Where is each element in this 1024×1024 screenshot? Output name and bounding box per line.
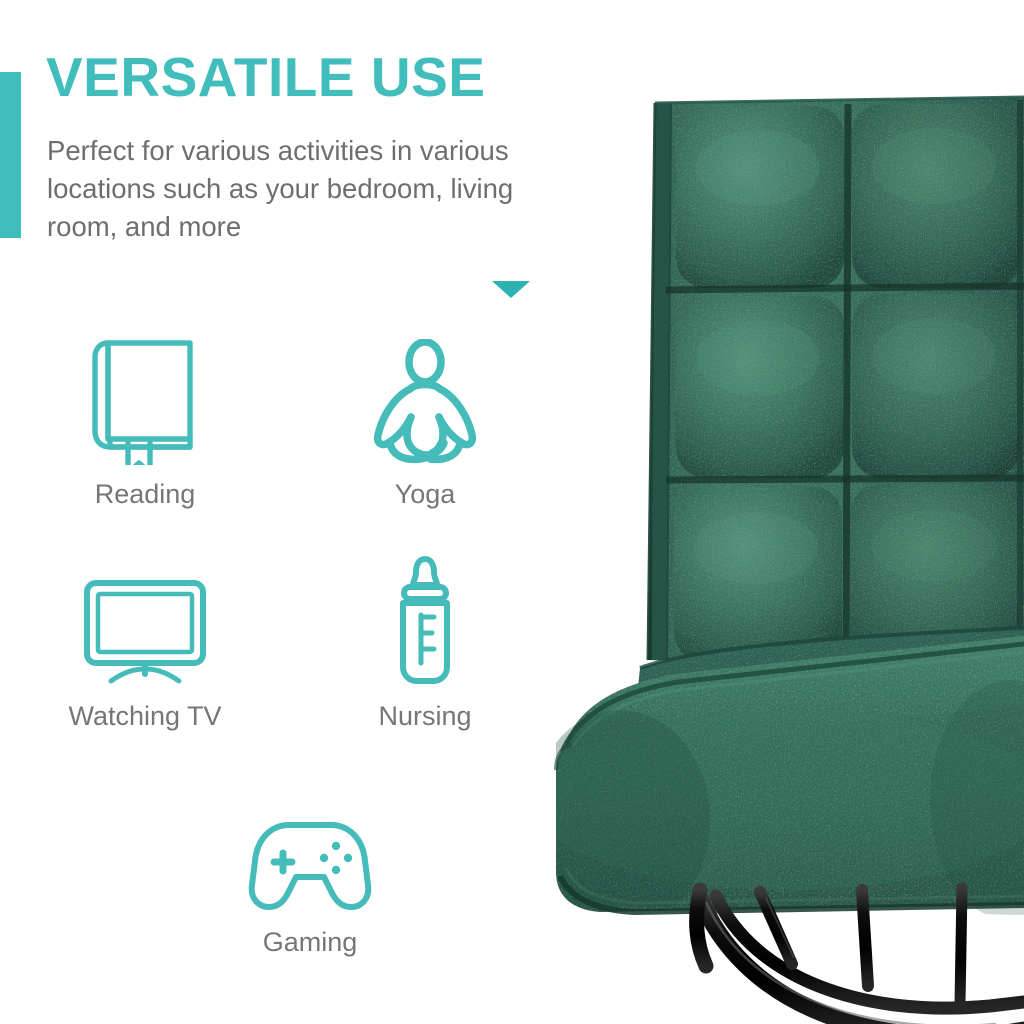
use-case-reading: Reading [30, 325, 260, 508]
use-case-label: Nursing [310, 703, 540, 730]
chair-backrest [648, 97, 1024, 668]
use-case-watching-tv: Watching TV [30, 547, 260, 730]
info-panel: VERSATILE USE Perfect for various activi… [0, 0, 545, 1024]
chair-seat-cushion [530, 636, 1024, 930]
use-case-nursing: Nursing [310, 547, 540, 730]
baby-bottle-icon [310, 547, 540, 687]
accent-bar [0, 72, 21, 238]
yoga-icon [310, 325, 540, 465]
page-subtitle: Perfect for various activities in variou… [47, 132, 517, 247]
triangle-down-icon [492, 281, 530, 298]
use-case-label: Gaming [195, 929, 425, 956]
tv-icon [30, 547, 260, 687]
use-case-yoga: Yoga [310, 325, 540, 508]
use-case-label: Watching TV [30, 703, 260, 730]
game-controller-icon [195, 773, 425, 913]
use-case-gaming: Gaming [195, 773, 425, 956]
page-title: VERSATILE USE [46, 50, 516, 105]
infographic-page: VERSATILE USE Perfect for various activi… [0, 0, 1024, 1024]
use-case-label: Reading [30, 481, 260, 508]
use-case-label: Yoga [310, 481, 540, 508]
book-icon [30, 325, 260, 465]
